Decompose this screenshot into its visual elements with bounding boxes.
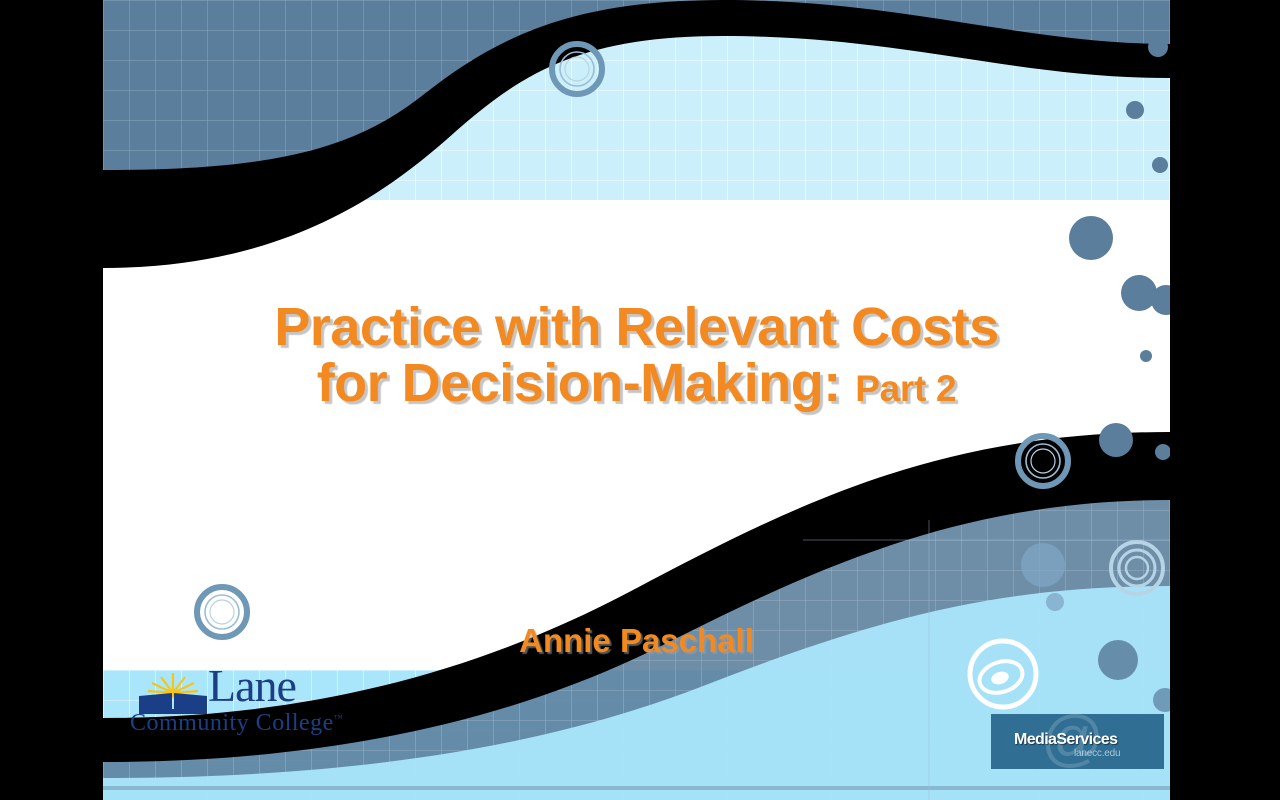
letterbox-right bbox=[1170, 0, 1280, 800]
title-line-2-main: for Decision-Making: bbox=[317, 353, 841, 413]
letterbox-left bbox=[0, 0, 103, 800]
presenter-name: Annie Paschall bbox=[103, 622, 1170, 660]
media-services-watermark: @ MediaServices lanecc.edu bbox=[991, 714, 1164, 769]
book-right-page bbox=[174, 693, 207, 711]
slide-viewer: Practice with Relevant Costs for Decisio… bbox=[0, 0, 1280, 800]
bottom-edge-line bbox=[103, 786, 1170, 790]
presentation-slide: Practice with Relevant Costs for Decisio… bbox=[103, 0, 1170, 800]
lane-community-college-logo: Lane Community College™ bbox=[128, 663, 343, 745]
logo-wordmark: Lane bbox=[208, 663, 296, 709]
slide-title: Practice with Relevant Costs for Decisio… bbox=[103, 300, 1170, 411]
media-services-label: MediaServices bbox=[1014, 731, 1117, 749]
title-line-1: Practice with Relevant Costs bbox=[103, 300, 1170, 356]
media-services-url: lanecc.edu bbox=[1074, 748, 1120, 759]
title-part-label: Part 2 bbox=[855, 368, 956, 409]
title-line-2: for Decision-Making: Part 2 bbox=[103, 356, 1170, 412]
logo-sub-wordmark: Community College™ bbox=[130, 710, 343, 737]
book-left-page bbox=[139, 693, 172, 711]
ring-top-center bbox=[552, 44, 602, 94]
trademark-symbol: ™ bbox=[334, 713, 343, 723]
logo-sub-text: Community College bbox=[130, 710, 334, 736]
